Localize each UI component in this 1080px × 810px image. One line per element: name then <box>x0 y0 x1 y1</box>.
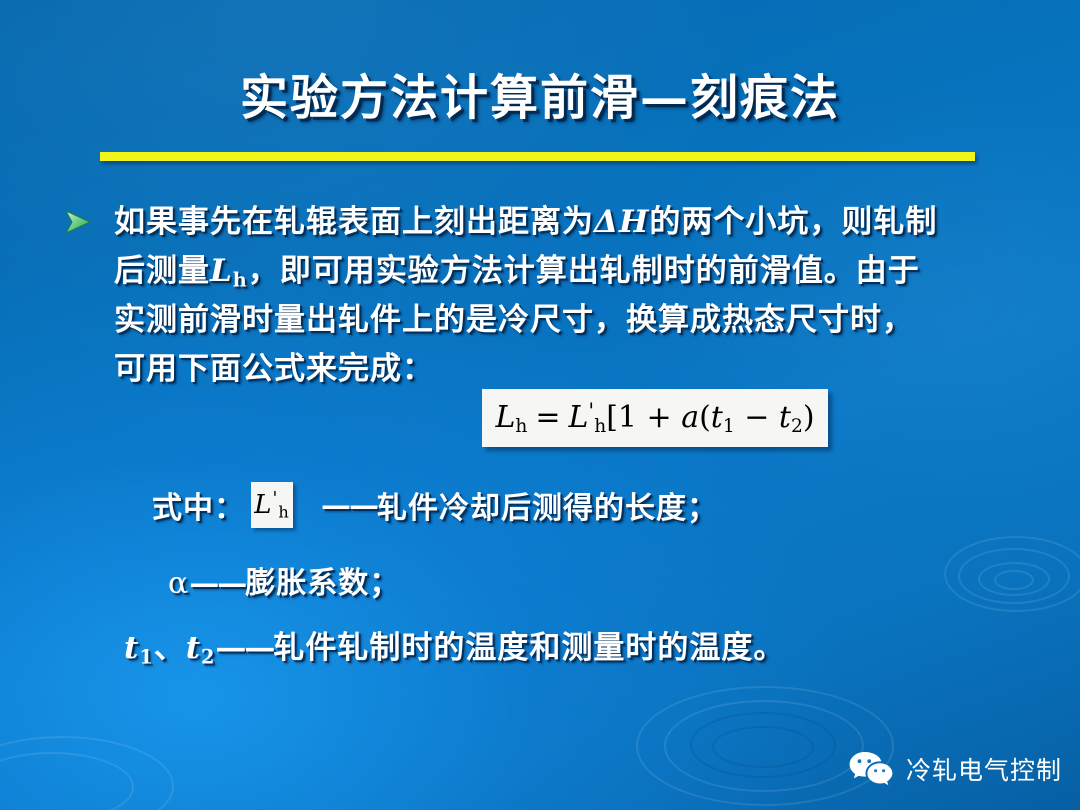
formula-rhs-var: L <box>569 400 589 435</box>
water-ripple-decoration <box>0 752 134 810</box>
formula-minus: − <box>735 400 779 435</box>
symbol-chip-lh: L'h <box>251 482 293 528</box>
watermark: 冷轧电气控制 <box>848 750 1062 788</box>
formula-t1-sub: 1 <box>723 416 735 437</box>
where-3-symbol-t2: t <box>186 630 201 666</box>
where-2-dash: —— <box>189 566 245 601</box>
formula-t2-sub: 2 <box>791 416 803 437</box>
slide-canvas: 实验方法计算前滑—刻痕法 如果事先在轧辊表面上刻出距离为ΔH的两个小坑，则轧制 … <box>0 0 1080 810</box>
where-clause-1: 式中： L'h —— 轧件冷却后测得的长度； <box>152 482 718 528</box>
where-3-dash: —— <box>215 630 273 666</box>
where-3-symbol-t1: t <box>124 630 139 666</box>
arrow-triangle-bullet-icon <box>64 210 92 234</box>
page-title: 实验方法计算前滑—刻痕法 <box>240 58 840 128</box>
water-ripple-decoration <box>690 712 836 778</box>
water-ripple-decoration <box>978 562 1050 596</box>
formula-rhs-sub: h <box>594 416 606 437</box>
title-divider-rule <box>100 152 975 161</box>
water-ripple-decoration <box>664 700 864 792</box>
bullet-paragraph-block: 如果事先在轧辊表面上刻出距离为ΔH的两个小坑，则轧制 后测量Lh，即可用实验方法… <box>62 198 1022 394</box>
where-2-symbol: α <box>168 566 189 601</box>
symbol-chip-lh-text: L'h <box>254 489 290 521</box>
where-1-dash: —— <box>321 488 377 523</box>
paragraph-line-3: 实测前滑时量出轧件上的是冷尺寸，换算成热态尺寸时， <box>62 296 1022 345</box>
chip-var: L <box>254 490 272 520</box>
formula-expression: Lh=L'h[1 + a(t1 − t2) <box>495 399 814 437</box>
formula-paren-open: ( <box>699 400 711 435</box>
where-3-description: 轧件轧制时的温度和测量时的温度。 <box>273 630 785 666</box>
water-ripple-decoration <box>944 536 1080 612</box>
formula-lhs-var: L <box>495 400 515 435</box>
water-ripple-decoration <box>958 548 1070 604</box>
where-2-description: 膨胀系数； <box>245 566 400 601</box>
paragraph-line-1-pre: 如果事先在轧辊表面上刻出距离为 <box>114 204 594 240</box>
water-ripple-decoration <box>0 736 174 810</box>
paragraph-line-1-post: 的两个小坑，则轧制 <box>649 204 937 240</box>
water-ripple-decoration <box>712 726 814 768</box>
formula-equals: = <box>527 400 568 435</box>
water-ripple-decoration <box>994 570 1034 590</box>
formula-lhs-sub: h <box>515 416 527 437</box>
water-ripple-decoration <box>636 686 894 806</box>
paragraph-line-1: 如果事先在轧辊表面上刻出距离为ΔH的两个小坑，则轧制 <box>62 198 1022 247</box>
formula-box: Lh=L'h[1 + a(t1 − t2) <box>482 389 828 447</box>
where-3-symbol-t2-sub: 2 <box>201 645 215 668</box>
where-3-separator: 、 <box>154 630 186 666</box>
where-1-description: 轧件冷却后测得的长度； <box>377 483 718 527</box>
chip-sub: h <box>278 502 289 521</box>
paragraph-line-4: 可用下面公式来完成： <box>62 345 1022 394</box>
paragraph-line-2-math: L <box>210 253 233 289</box>
title-area: 实验方法计算前滑—刻痕法 <box>0 58 1080 128</box>
paragraph-line-2-math-sub: h <box>233 268 248 291</box>
paragraph-line-1-math: ΔH <box>594 204 649 240</box>
formula-t2: t <box>779 400 791 435</box>
watermark-text: 冷轧电气控制 <box>906 751 1062 787</box>
formula-rhs-open: [1 + <box>606 400 681 435</box>
wechat-icon <box>848 750 894 788</box>
where-clause-3: t1、t2——轧件轧制时的温度和测量时的温度。 <box>124 622 785 668</box>
where-clause-2: α——膨胀系数； <box>168 558 400 602</box>
formula-close: ) <box>803 400 815 435</box>
where-label: 式中： <box>152 483 245 527</box>
formula-coefficient: a <box>681 400 699 435</box>
where-3-symbol-t1-sub: 1 <box>139 645 153 668</box>
formula-t1: t <box>711 400 723 435</box>
paragraph-line-2: 后测量Lh，即可用实验方法计算出轧制时的前滑值。由于 <box>62 247 1022 296</box>
paragraph-line-2-pre: 后测量 <box>114 253 210 289</box>
paragraph-line-2-post: ，即可用实验方法计算出轧制时的前滑值。由于 <box>248 253 920 289</box>
